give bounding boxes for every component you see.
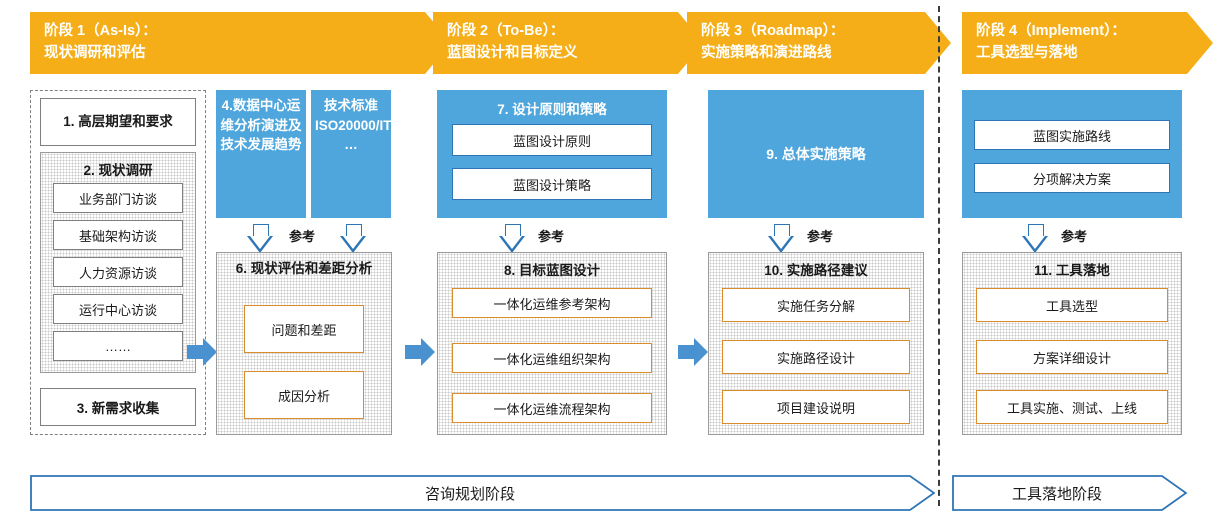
col5-blue-item-1-label: 蓝图实施路线 [1033,126,1111,145]
col3-item-1[interactable]: 一体化运维参考架构 [452,288,652,318]
col5-blue-item-2[interactable]: 分项解决方案 [974,163,1170,193]
phase-2-line2: 蓝图设计和目标定义 [447,42,668,64]
col4-item-1-label: 实施任务分解 [777,296,855,315]
banner-arrow-tip [1187,12,1213,74]
col3-blue-item-1[interactable]: 蓝图设计原则 [452,124,652,156]
col4-item-3[interactable]: 项目建设说明 [722,390,910,424]
col4-ref-label: 参考 [807,226,833,245]
col1-interview-3-label: 人力资源访谈 [79,263,157,282]
phase-4-line1: 阶段 4（Implement）： [976,20,1177,42]
col5-item-1-label: 工具选型 [1046,296,1098,315]
col1-box-2-title: 2. 现状调研 [40,159,196,179]
phase-4-line2: 工具选型与落地 [976,42,1177,64]
col5-ref-arrow [1022,224,1048,254]
arrow-head-inner [343,236,363,249]
col3-item-3[interactable]: 一体化运维流程架构 [452,393,652,423]
col2-item-1-label: 问题和差距 [271,320,336,339]
flow-arrow-3 [678,338,710,366]
col5-item-2[interactable]: 方案详细设计 [976,340,1168,374]
arrow-tail [678,345,694,359]
col4-item-1[interactable]: 实施任务分解 [722,288,910,322]
arrow-tail [187,345,203,359]
ribbon-left-label: 咨询规划阶段 [30,483,910,504]
col5-item-3[interactable]: 工具实施、测试、上线 [976,390,1168,424]
col1-interview-2[interactable]: 基础架构访谈 [53,220,183,250]
col2-ref-arrow-left [247,224,273,254]
col3-box-8-title: 8. 目标蓝图设计 [437,259,667,279]
arrow-head [694,338,708,366]
col1-interview-2-label: 基础架构访谈 [79,226,157,245]
col4-ref-arrow [768,224,794,254]
col5-blue-panel [962,90,1182,218]
col2-blue-left-label: 4.数据中心运维分析演进及技术发展趋势 [221,98,302,152]
col1-interview-4[interactable]: 运行中心访谈 [53,294,183,324]
arrow-head-inner [250,236,270,249]
phase-banner-2: 阶段 2（To-Be）： 蓝图设计和目标定义 [433,12,678,74]
col2-ref-label: 参考 [289,226,315,245]
col4-item-3-label: 项目建设说明 [777,398,855,417]
phase-3-line1: 阶段 3（Roadmap）： [701,20,915,42]
col5-item-1[interactable]: 工具选型 [976,288,1168,322]
col3-blue-item-2[interactable]: 蓝图设计策略 [452,168,652,200]
flow-arrow-2 [405,338,437,366]
col3-item-1-label: 一体化运维参考架构 [493,294,610,313]
col1-box-1-label: 1. 高层期望和要求 [57,113,179,132]
col2-box-6-title: 6. 现状评估和差距分析 [222,259,386,279]
col5-blue-item-2-label: 分项解决方案 [1033,169,1111,188]
col3-ref-label: 参考 [538,226,564,245]
col2-ref-arrow-right [340,224,366,254]
section-divider [938,6,940,506]
col1-interview-4-label: 运行中心访谈 [79,300,157,319]
arrow-head [421,338,435,366]
arrow-head-inner [1025,236,1045,249]
col3-item-2-label: 一体化运维组织架构 [493,349,610,368]
arrow-head-inner [502,236,522,249]
col1-box-3[interactable]: 3. 新需求收集 [40,388,196,426]
phase-banner-4: 阶段 4（Implement）： 工具选型与落地 [962,12,1187,74]
phase-3-line2: 实施策略和演进路线 [701,42,915,64]
col4-blue-panel[interactable]: 9. 总体实施策略 [708,90,924,218]
col2-item-2[interactable]: 成因分析 [244,371,364,419]
col4-item-2[interactable]: 实施路径设计 [722,340,910,374]
col2-blue-right[interactable]: 技术标准ISO20000/ITSS/ITIL… … [311,90,391,218]
col1-box-3-label: 3. 新需求收集 [77,397,160,417]
col3-item-3-label: 一体化运维流程架构 [493,399,610,418]
ribbon-left-wrap: 咨询规划阶段 [30,475,935,511]
arrow-head [203,338,217,366]
col1-interview-1[interactable]: 业务部门访谈 [53,183,183,213]
col4-item-2-label: 实施路径设计 [777,348,855,367]
col3-item-2[interactable]: 一体化运维组织架构 [452,343,652,373]
phase-banner-3: 阶段 3（Roadmap）： 实施策略和演进路线 [687,12,925,74]
col3-blue-item-2-label: 蓝图设计策略 [513,175,591,194]
col4-box-10-title: 10. 实施路径建议 [708,259,924,279]
phase-1-line1: 阶段 1（As-Is）： [44,20,415,42]
phase-banner-1: 阶段 1（As-Is）： 现状调研和评估 [30,12,425,74]
col2-blue-right-label: 技术标准ISO20000/ITSS/ITIL… … [315,98,451,152]
arrow-tail [405,345,421,359]
col5-ref-label: 参考 [1061,226,1087,245]
col2-blue-left[interactable]: 4.数据中心运维分析演进及技术发展趋势 [216,90,306,218]
col3-blue-title: 7. 设计原则和策略 [497,102,607,117]
col5-item-3-label: 工具实施、测试、上线 [1007,398,1137,417]
phase-2-line1: 阶段 2（To-Be）： [447,20,668,42]
col4-blue-title: 9. 总体实施策略 [766,144,866,164]
col2-item-2-label: 成因分析 [278,386,330,405]
col1-interview-5[interactable]: …… [53,331,183,361]
col3-blue-item-1-label: 蓝图设计原则 [513,131,591,150]
col5-item-2-label: 方案详细设计 [1033,348,1111,367]
phase-1-line2: 现状调研和评估 [44,42,415,64]
col1-interview-5-label: …… [105,339,131,354]
ribbon-right-wrap: 工具落地阶段 [952,475,1187,511]
ribbon-right-label: 工具落地阶段 [952,483,1162,504]
col2-item-1[interactable]: 问题和差距 [244,305,364,353]
col5-blue-item-1[interactable]: 蓝图实施路线 [974,120,1170,150]
col1-box-1[interactable]: 1. 高层期望和要求 [40,98,196,146]
flow-arrow-1 [187,338,219,366]
arrow-head-inner [771,236,791,249]
col1-interview-1-label: 业务部门访谈 [79,189,157,208]
col3-ref-arrow [499,224,525,254]
col5-box-11-title: 11. 工具落地 [962,259,1182,279]
col1-interview-3[interactable]: 人力资源访谈 [53,257,183,287]
